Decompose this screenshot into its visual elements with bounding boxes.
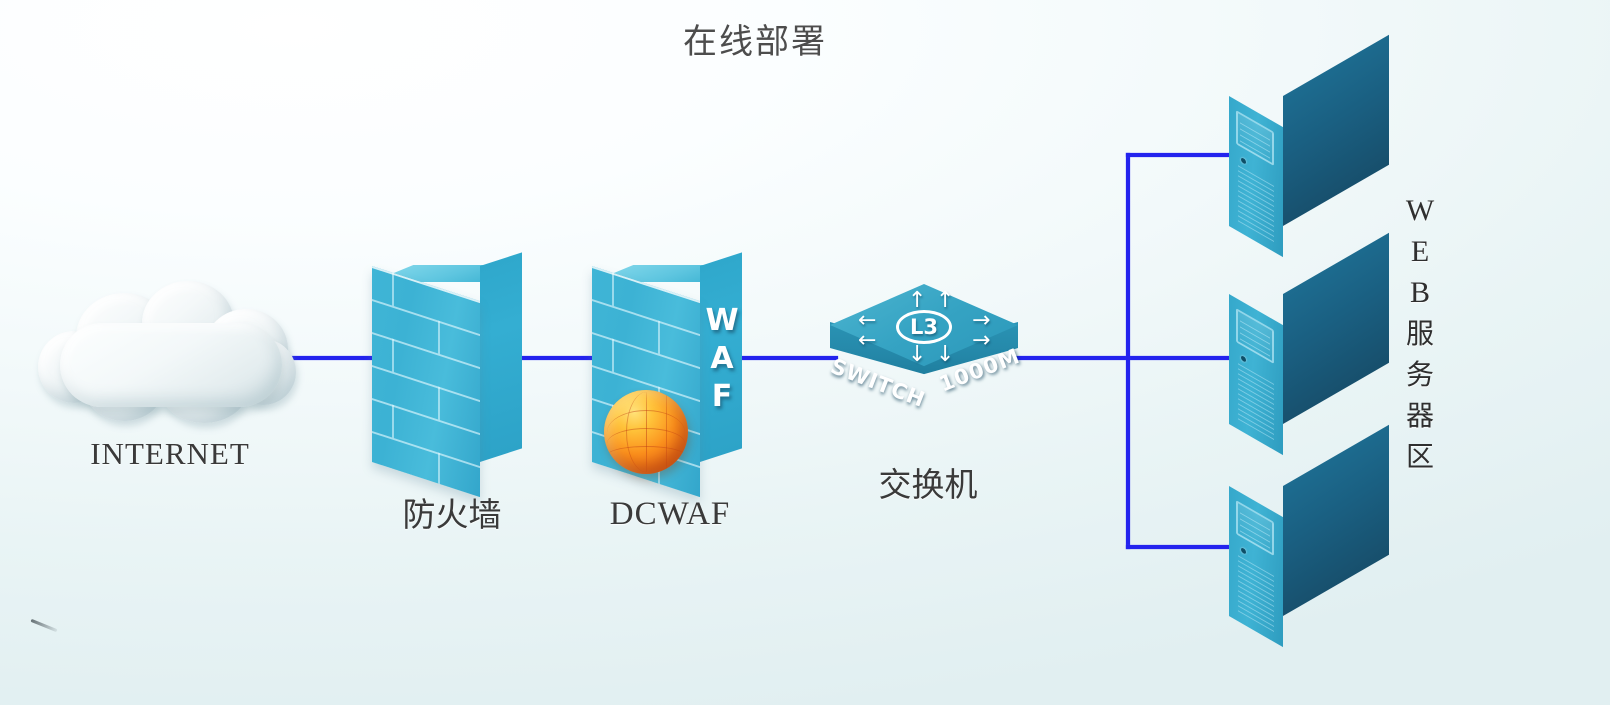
page-title: 在线部署 — [0, 14, 1510, 63]
internet-label: INTERNET — [20, 436, 320, 472]
globe-icon — [604, 390, 688, 474]
waf-letter-w: W — [704, 302, 740, 340]
web-zone-char-0: W — [1394, 190, 1446, 231]
waf-letter-f: F — [704, 378, 740, 416]
layer3-switch-icon: L3 ↑ ↑ ← ← → → ↓ ↓ SWITCH 1000M — [824, 282, 1024, 422]
cloud-icon — [38, 281, 303, 431]
stray-pen-stroke — [30, 619, 57, 632]
web-zone-char-3: 服 — [1394, 313, 1446, 354]
web-zone-char-6: 区 — [1394, 436, 1446, 477]
brick-wall-icon — [372, 240, 532, 485]
server-tower-icon-2[interactable] — [1229, 266, 1389, 446]
network-topology-diagram: 在线部署 INTERNET — [0, 0, 1610, 705]
waf-badge: W A F — [704, 302, 740, 416]
firewall-label: 防火墙 — [332, 488, 572, 536]
web-zone-label: W E B 服 务 器 区 — [1394, 190, 1446, 477]
waf-letter-a: A — [704, 340, 740, 378]
web-zone-char-1: E — [1394, 231, 1446, 272]
web-zone-char-4: 务 — [1394, 354, 1446, 395]
server-tower-icon-3[interactable] — [1229, 458, 1389, 638]
link-bus-to-server-1 — [1126, 153, 1231, 157]
waf-label: DCWAF — [550, 496, 790, 533]
server-tower-icon-1[interactable] — [1229, 68, 1389, 248]
web-zone-char-5: 器 — [1394, 395, 1446, 436]
web-zone-char-2: B — [1394, 272, 1446, 313]
link-web-bus-vertical — [1126, 153, 1130, 549]
switch-label: 交换机 — [808, 458, 1048, 506]
switch-l3-badge: L3 — [896, 310, 952, 344]
link-switch-to-bus — [1016, 356, 1231, 360]
link-bus-to-server-3 — [1126, 545, 1231, 549]
